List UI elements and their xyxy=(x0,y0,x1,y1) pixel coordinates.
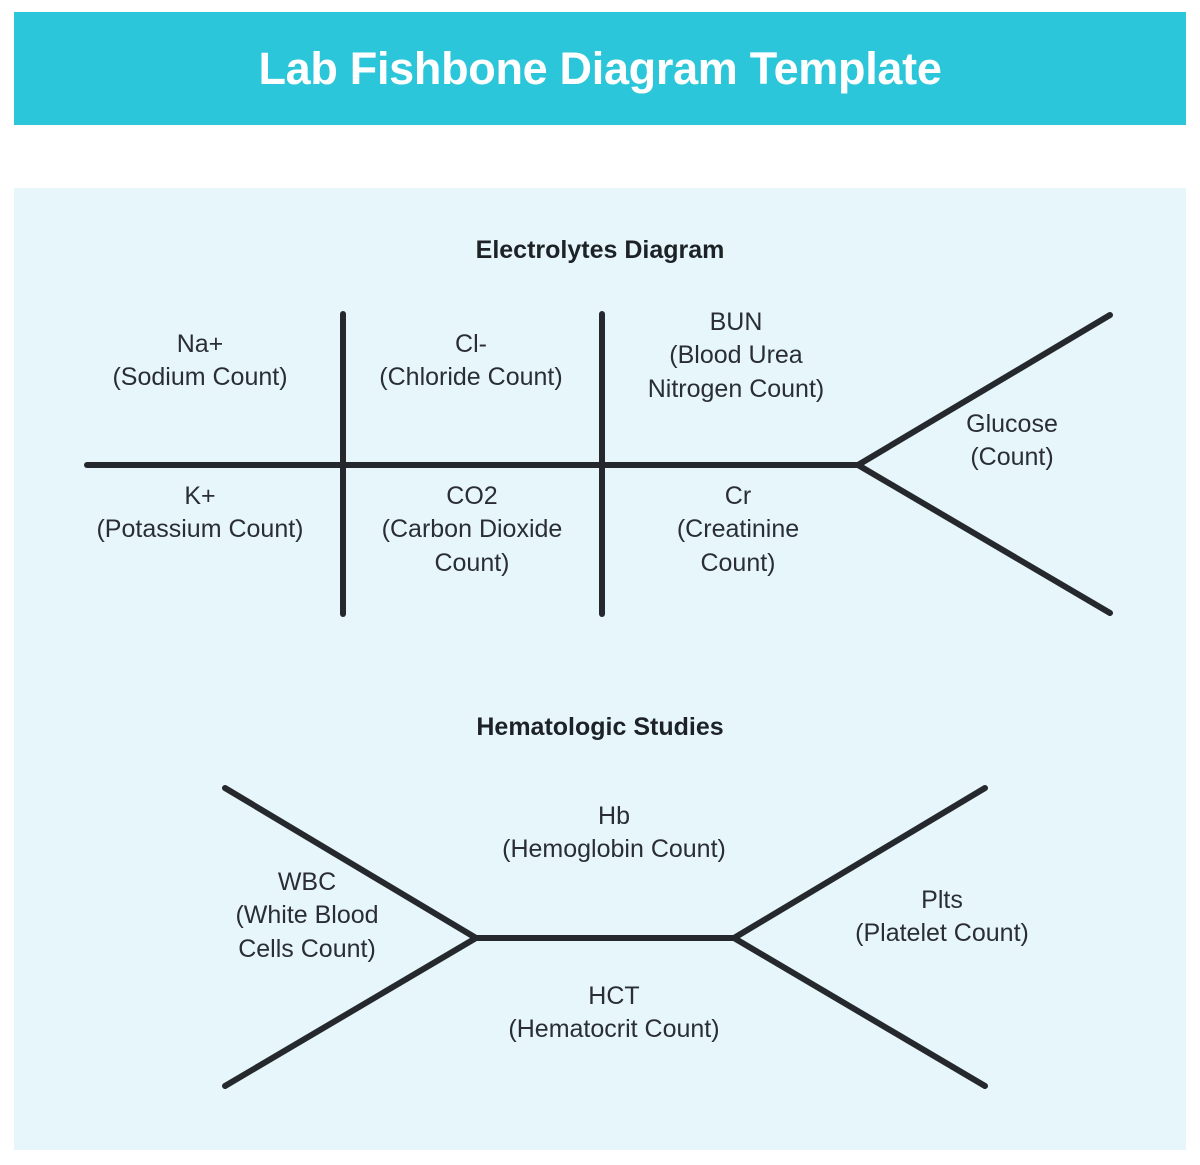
fishbone-electrolytes: Na+ (Sodium Count) K+ (Potassium Count) … xyxy=(14,288,1186,638)
fishbone-hematologic: WBC (White Blood Cells Count) Hb (Hemogl… xyxy=(14,758,1186,1138)
label-hemoglobin: Hb (Hemoglobin Count) xyxy=(444,800,784,867)
label-potassium: K+ (Potassium Count) xyxy=(64,480,336,547)
label-carbon-dioxide: CO2 (Carbon Dioxide Count) xyxy=(352,480,592,580)
label-glucose: Glucose (Count) xyxy=(902,408,1122,475)
fork-arm-lower-right xyxy=(858,465,1110,613)
section-title-electrolytes: Electrolytes Diagram xyxy=(14,236,1186,265)
page-title: Lab Fishbone Diagram Template xyxy=(258,46,941,91)
label-creatinine: Cr (Creatinine Count) xyxy=(626,480,850,580)
diagram-panel: Electrolytes Diagram Na+ (Sodium Count) … xyxy=(14,188,1186,1150)
section-title-hematologic: Hematologic Studies xyxy=(14,713,1186,742)
header-banner: Lab Fishbone Diagram Template xyxy=(14,12,1186,125)
label-blood-urea-nitrogen: BUN (Blood Urea Nitrogen Count) xyxy=(614,306,858,406)
label-sodium: Na+ (Sodium Count) xyxy=(72,328,328,395)
label-white-blood-cells: WBC (White Blood Cells Count) xyxy=(192,866,422,966)
label-hematocrit: HCT (Hematocrit Count) xyxy=(444,980,784,1047)
label-platelets: Plts (Platelet Count) xyxy=(802,884,1082,951)
label-chloride: Cl- (Chloride Count) xyxy=(349,328,593,395)
